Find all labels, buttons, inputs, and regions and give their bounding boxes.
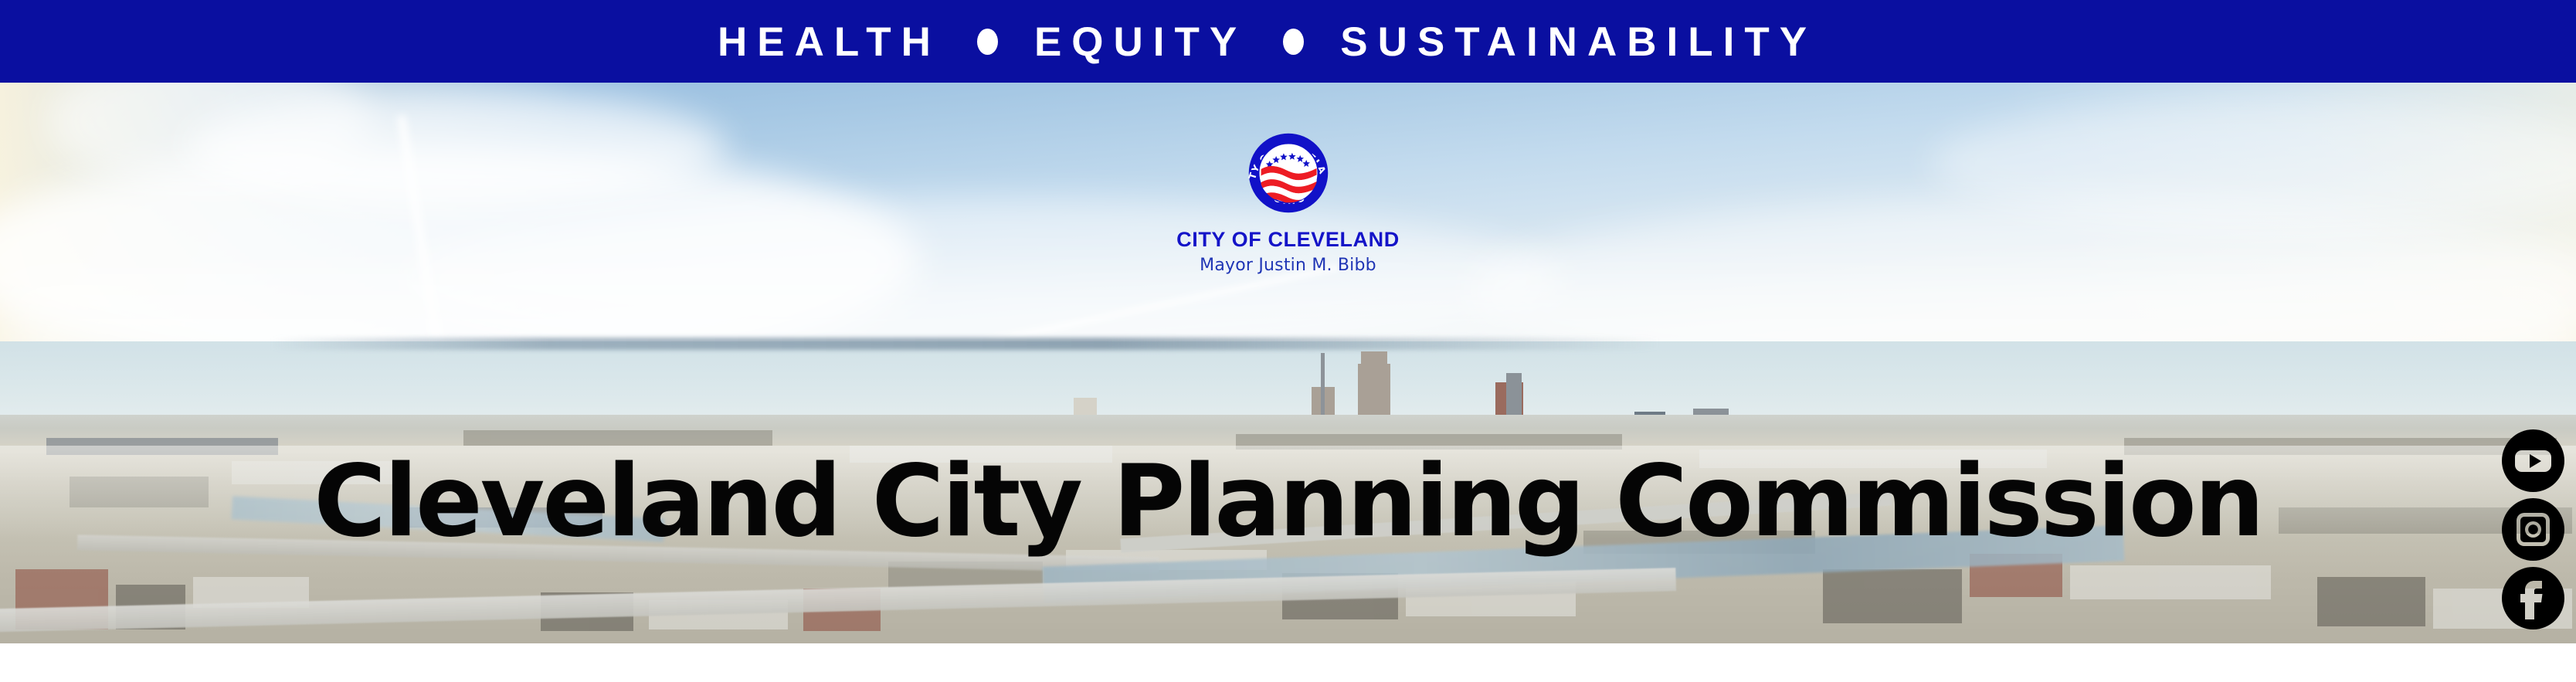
city-name-label: CITY OF CLEVELAND xyxy=(0,229,2576,250)
tagline-word-equity: EQUITY xyxy=(1034,20,1247,63)
social-links xyxy=(2500,429,2565,629)
instagram-icon[interactable] xyxy=(2502,498,2564,561)
tagline-word-sustainability: SUSTAINABILITY xyxy=(1340,20,1817,63)
facebook-icon[interactable] xyxy=(2502,567,2564,629)
city-of-cleveland-seal-icon: CITY OF CLEVELAND OHIO xyxy=(1241,126,1336,220)
page-title: Cleveland City Planning Commission xyxy=(0,453,2576,551)
tagline-word-health: HEALTH xyxy=(718,20,941,63)
youtube-icon[interactable] xyxy=(2502,429,2564,492)
mayor-name-label: Mayor Justin M. Bibb xyxy=(0,257,2576,274)
tagline-banner: HEALTH EQUITY SUSTAINABILITY xyxy=(0,0,2576,83)
city-logo-block: CITY OF CLEVELAND OHIO xyxy=(0,126,2576,274)
bullet-dot-icon xyxy=(1283,29,1304,55)
tagline-banner-content: HEALTH EQUITY SUSTAINABILITY xyxy=(718,20,1817,63)
cleveland-city-planning-commission-header: HEALTH EQUITY SUSTAINABILITY xyxy=(0,0,2576,682)
bullet-dot-icon xyxy=(977,29,998,55)
